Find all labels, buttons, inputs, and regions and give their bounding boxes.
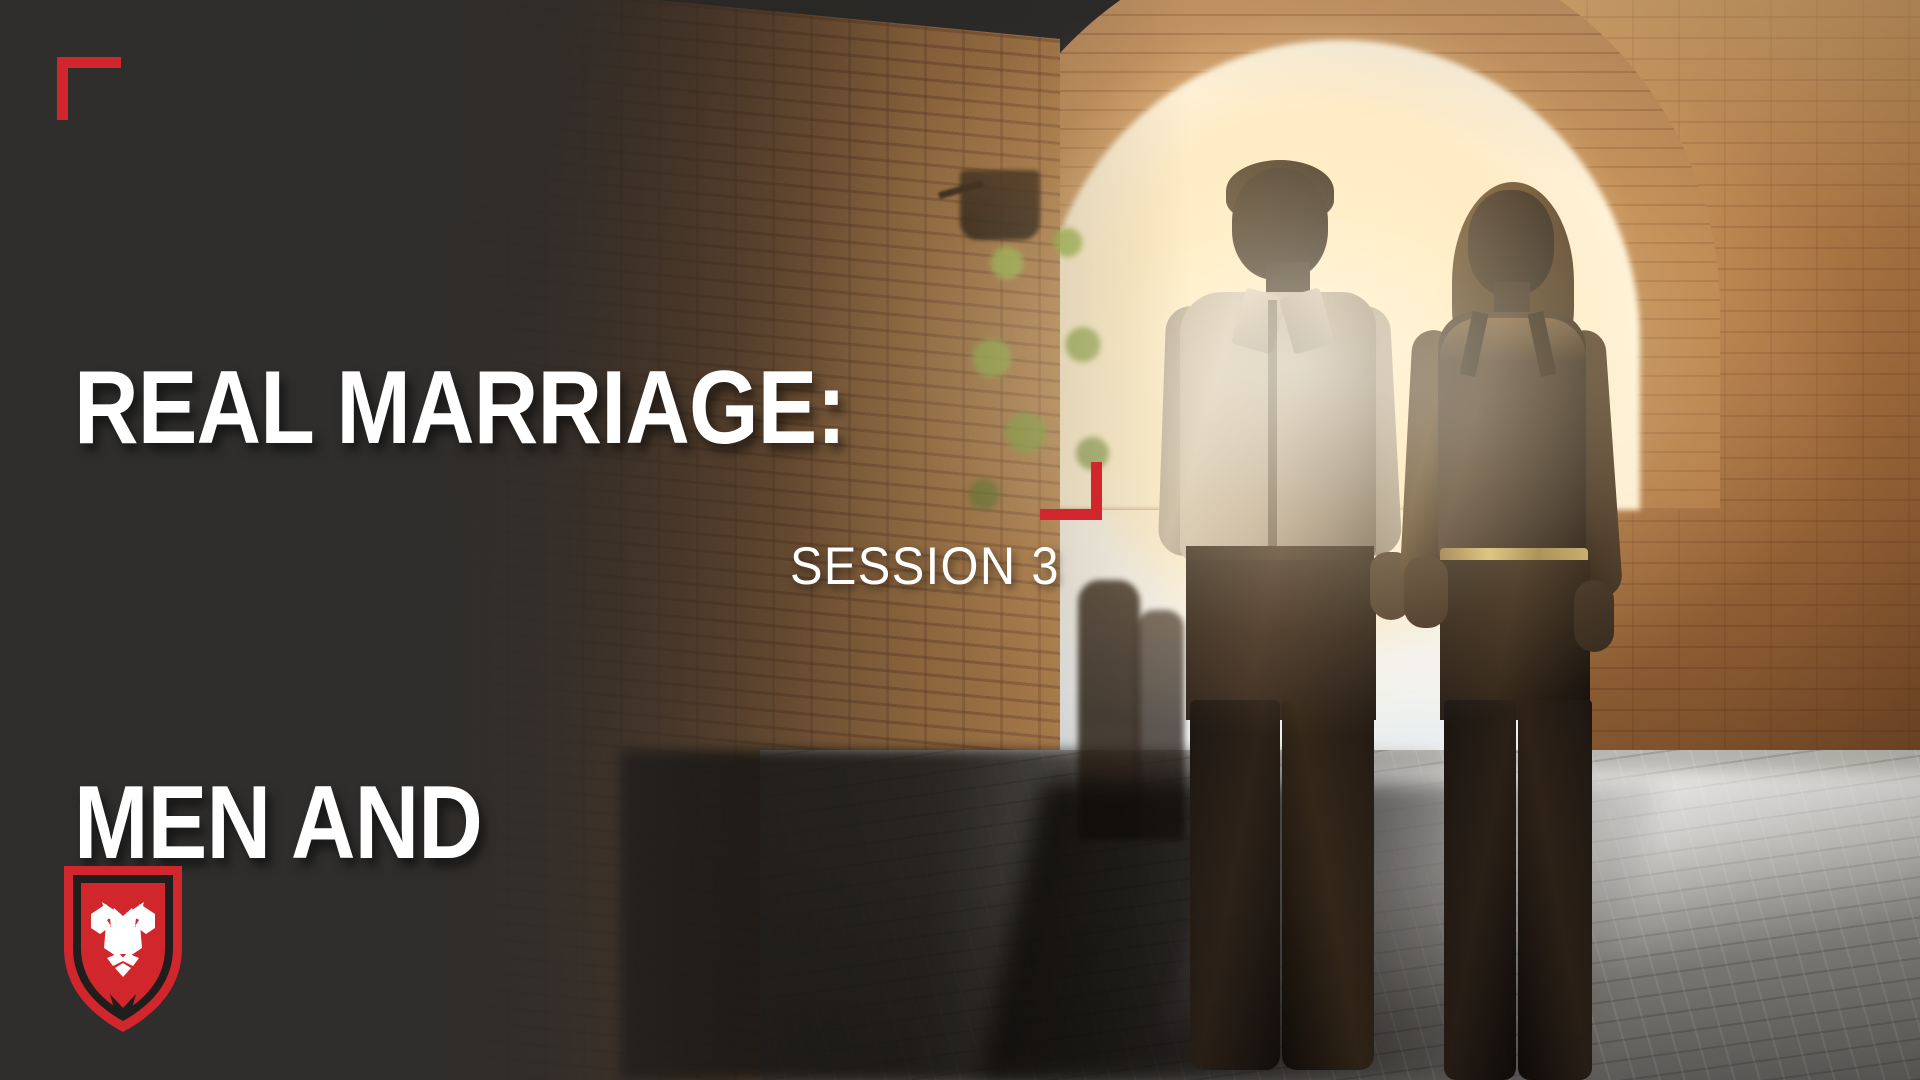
man-left-leg [1190, 700, 1280, 1070]
woman-shoulders [1440, 318, 1586, 362]
woman-right-leg [1518, 700, 1592, 1080]
woman-clasped-hand [1404, 556, 1448, 628]
title-line-2: MEN AND [74, 754, 977, 892]
woman-free-hand [1574, 580, 1614, 652]
session-label: SESSION 3 [790, 536, 1060, 597]
woman-head [1468, 190, 1554, 296]
man-hips [1186, 560, 1376, 720]
woman-left-leg [1444, 700, 1516, 1080]
corner-bracket-bottom-right-icon [1040, 462, 1102, 520]
man-shirt-placket [1268, 300, 1277, 550]
man-shirt [1180, 292, 1376, 560]
lion-shield-icon [62, 862, 184, 1034]
title-line-1: REAL MARRIAGE: [74, 339, 977, 477]
title-slide: REAL MARRIAGE: MEN AND MARRIAGE SESSION … [0, 0, 1920, 1080]
lion-shield-logo [62, 862, 184, 1034]
man-right-leg [1282, 700, 1374, 1070]
woman-hips [1440, 560, 1590, 720]
